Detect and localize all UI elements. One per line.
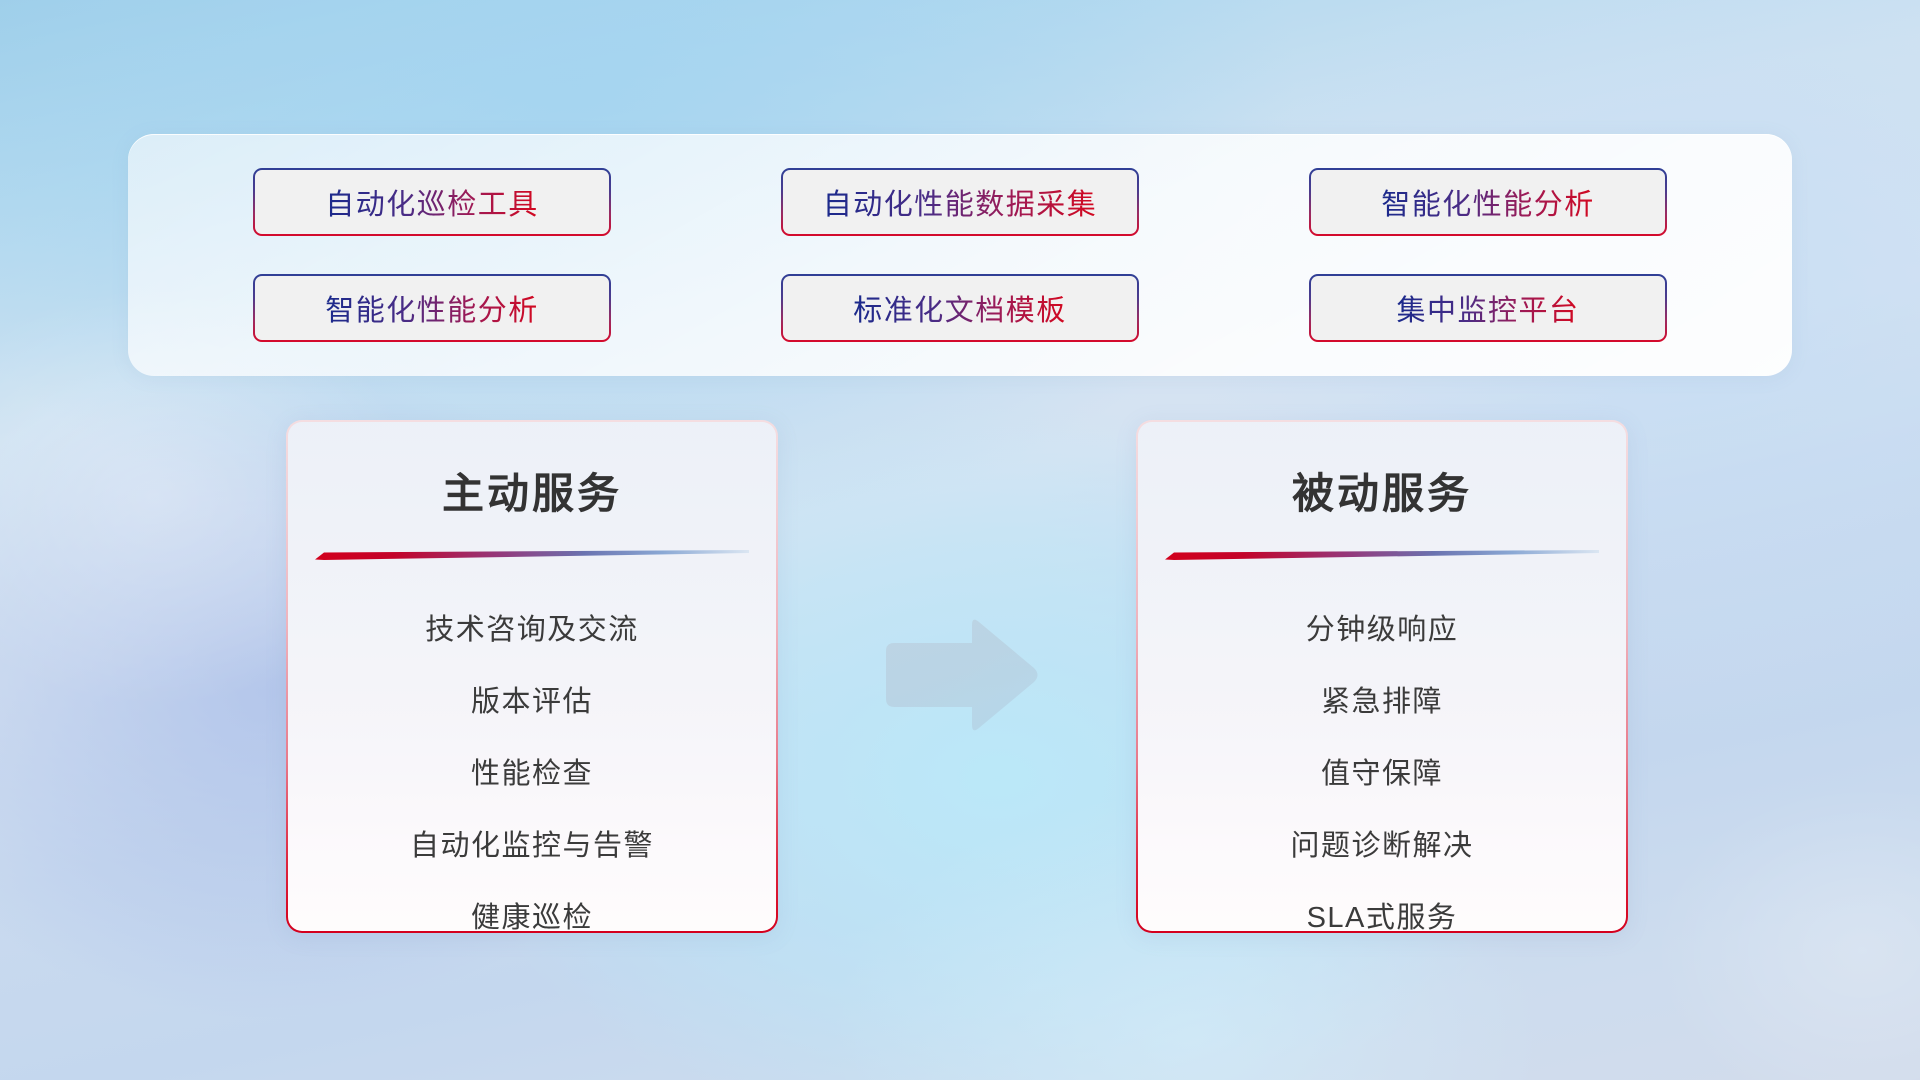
capability-tag-panel: 自动化巡检工具 自动化性能数据采集 智能化性能分析 智能化性能分析 标准化文档模… bbox=[128, 134, 1792, 376]
card-item-list: 分钟级响应 紧急排障 值守保障 问题诊断解决 SLA式服务 bbox=[1138, 594, 1626, 933]
card-divider bbox=[1165, 547, 1599, 560]
service-card-active[interactable]: 主动服务 技术咨询及交流 版本评估 性能检查 自动化监控与告警 健康巡检 bbox=[286, 420, 778, 933]
card-list-item: 问题诊断解决 bbox=[1290, 810, 1473, 882]
capability-tag-grid: 自动化巡检工具 自动化性能数据采集 智能化性能分析 智能化性能分析 标准化文档模… bbox=[128, 134, 1792, 376]
card-list-item: 紧急排障 bbox=[1321, 666, 1443, 738]
card-list-item: 性能检查 bbox=[471, 738, 593, 810]
card-list-item: SLA式服务 bbox=[1307, 882, 1458, 933]
capability-tag[interactable]: 自动化性能数据采集 bbox=[781, 168, 1139, 236]
capability-tag-label: 集中监控平台 bbox=[1396, 287, 1579, 329]
capability-tag[interactable]: 智能化性能分析 bbox=[253, 274, 611, 342]
capability-tag-label: 智能化性能分析 bbox=[1381, 181, 1595, 223]
capability-tag[interactable]: 自动化巡检工具 bbox=[253, 168, 611, 236]
card-divider bbox=[315, 547, 749, 560]
card-list-item: 技术咨询及交流 bbox=[425, 594, 639, 666]
capability-tag-label: 自动化巡检工具 bbox=[325, 181, 539, 223]
arrow-right-icon bbox=[880, 615, 1042, 735]
capability-tag-label: 智能化性能分析 bbox=[325, 287, 539, 329]
capability-tag[interactable]: 标准化文档模板 bbox=[781, 274, 1139, 342]
card-list-item: 版本评估 bbox=[471, 666, 593, 738]
capability-tag-label: 标准化文档模板 bbox=[853, 287, 1067, 329]
card-title: 主动服务 bbox=[288, 460, 776, 521]
card-list-item: 健康巡检 bbox=[471, 882, 593, 933]
service-card-passive[interactable]: 被动服务 分钟级响应 紧急排障 值守保障 问题诊断解决 SLA式服务 bbox=[1136, 420, 1628, 933]
card-list-item: 分钟级响应 bbox=[1306, 594, 1459, 666]
card-title: 被动服务 bbox=[1138, 460, 1626, 521]
capability-tag[interactable]: 集中监控平台 bbox=[1309, 274, 1667, 342]
card-list-item: 自动化监控与告警 bbox=[410, 810, 654, 882]
card-list-item: 值守保障 bbox=[1321, 738, 1443, 810]
capability-tag[interactable]: 智能化性能分析 bbox=[1309, 168, 1667, 236]
card-item-list: 技术咨询及交流 版本评估 性能检查 自动化监控与告警 健康巡检 bbox=[288, 594, 776, 933]
capability-tag-label: 自动化性能数据采集 bbox=[823, 181, 1098, 223]
